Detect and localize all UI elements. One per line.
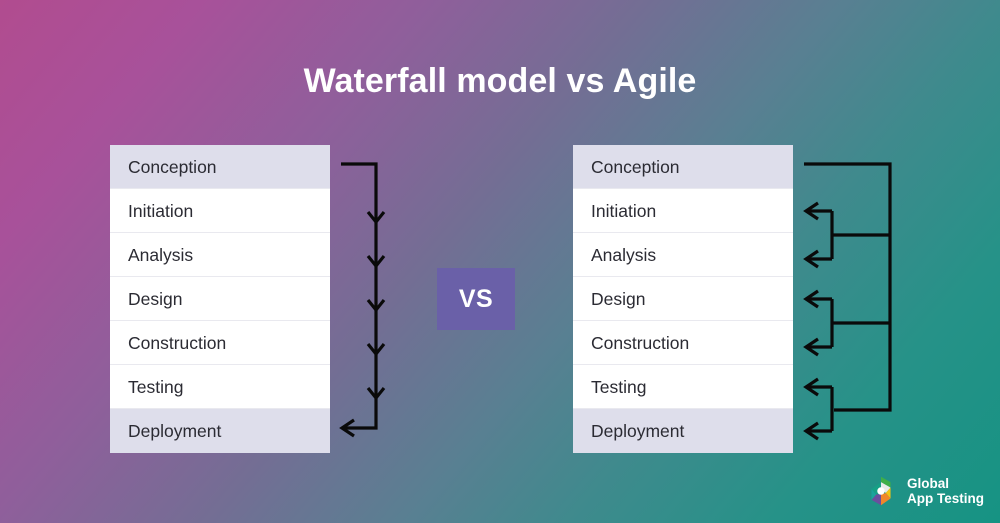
- table-row: Conception: [110, 145, 330, 189]
- table-row: Analysis: [573, 233, 793, 277]
- infographic-canvas: Waterfall model vs Agile Conception Init…: [0, 0, 1000, 523]
- table-row: Conception: [573, 145, 793, 189]
- table-row: Analysis: [110, 233, 330, 277]
- table-row: Deployment: [573, 409, 793, 453]
- chevron-down-icon: [368, 388, 384, 398]
- table-row: Design: [573, 277, 793, 321]
- chevron-down-icon: [368, 344, 384, 354]
- brand-logo: Global App Testing: [864, 470, 986, 512]
- chevron-down-icon: [368, 300, 384, 310]
- table-row: Design: [110, 277, 330, 321]
- table-row: Construction: [110, 321, 330, 365]
- table-row: Initiation: [110, 189, 330, 233]
- page-title: Waterfall model vs Agile: [0, 62, 1000, 101]
- waterfall-flow-arrow: [341, 164, 384, 436]
- chevron-left-icon: [806, 291, 818, 307]
- global-app-testing-mark-icon: [864, 474, 898, 508]
- chevron-down-icon: [368, 212, 384, 222]
- chevron-left-icon: [806, 251, 818, 267]
- chevron-left-icon: [806, 379, 818, 395]
- table-row: Testing: [573, 365, 793, 409]
- versus-badge: VS: [437, 268, 515, 330]
- chevron-left-icon: [806, 339, 818, 355]
- chevron-down-icon: [368, 256, 384, 266]
- chevron-left-icon: [806, 423, 818, 439]
- agile-phase-table: Conception Initiation Analysis Design Co…: [573, 145, 793, 453]
- waterfall-phase-table: Conception Initiation Analysis Design Co…: [110, 145, 330, 453]
- logo-line-2: App Testing: [907, 491, 984, 506]
- table-row: Testing: [110, 365, 330, 409]
- logo-line-1: Global: [907, 476, 984, 491]
- agile-flow-arrows: [804, 164, 890, 439]
- table-row: Deployment: [110, 409, 330, 453]
- chevron-left-icon: [342, 420, 354, 436]
- table-row: Initiation: [573, 189, 793, 233]
- versus-label: VS: [459, 285, 493, 314]
- table-row: Construction: [573, 321, 793, 365]
- chevron-left-icon: [806, 203, 818, 219]
